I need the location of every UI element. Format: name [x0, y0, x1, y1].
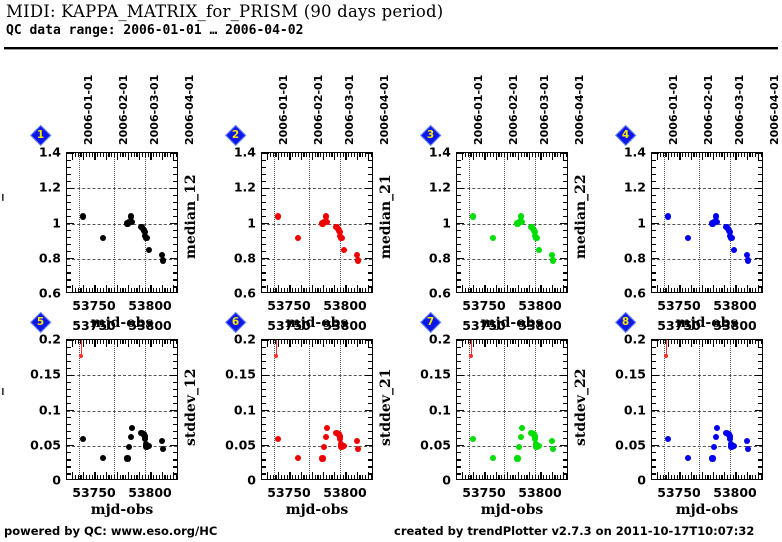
axis-tick-minor [696, 340, 697, 344]
data-point [731, 443, 737, 449]
axis-tick-major [702, 340, 703, 347]
data-point [685, 455, 691, 461]
data-point [711, 444, 717, 450]
axis-tick-minor [727, 475, 728, 479]
axis-tick-major [702, 472, 703, 479]
axis-tick-minor [707, 475, 708, 479]
axis-tick-major [657, 472, 658, 479]
axis-tick-minor [749, 475, 750, 479]
axis-tick-major [755, 410, 762, 411]
axis-tick-major [679, 340, 680, 347]
axis-tick-minor [652, 438, 656, 439]
axis-tick-minor [696, 475, 697, 479]
axis-tick-minor [758, 431, 762, 432]
axis-tick-minor [727, 340, 728, 344]
data-point [665, 436, 671, 442]
axis-tick-minor [682, 340, 683, 344]
y-axis-tick-label: 0.1 [605, 402, 646, 417]
gridline-vertical [664, 340, 665, 479]
axis-tick-minor [741, 475, 742, 479]
axis-tick-major [735, 340, 736, 347]
axis-tick-minor [685, 340, 686, 344]
axis-tick-minor [652, 347, 656, 348]
axis-tick-minor [758, 396, 762, 397]
y-axis-tick-label: 0.15 [605, 367, 646, 382]
axis-tick-major [668, 472, 669, 479]
axis-tick-minor [682, 475, 683, 479]
axis-tick-minor [733, 340, 734, 344]
axis-tick-major [691, 472, 692, 479]
axis-tick-minor [761, 475, 762, 479]
trend-plot-page: MIDI: KAPPA_MATRIX_for_PRISM (90 days pe… [0, 0, 782, 542]
axis-tick-major [652, 445, 659, 446]
axis-tick-minor [758, 417, 762, 418]
footer-powered-by: powered by QC: www.eso.org/HC [4, 524, 217, 538]
axis-tick-major [747, 340, 748, 347]
axis-tick-major [755, 375, 762, 376]
axis-tick-minor [716, 340, 717, 344]
axis-tick-minor [761, 340, 762, 344]
y-axis-tick-label: 0 [605, 473, 646, 488]
axis-tick-major [755, 445, 762, 446]
axis-tick-minor [652, 354, 656, 355]
data-point [714, 425, 720, 431]
axis-tick-minor [652, 368, 656, 369]
axis-tick-major [657, 340, 658, 347]
axis-tick-minor [758, 438, 762, 439]
axis-tick-minor [758, 382, 762, 383]
axis-tick-minor [665, 475, 666, 479]
axis-tick-minor [755, 475, 756, 479]
axis-tick-minor [671, 475, 672, 479]
axis-tick-minor [674, 340, 675, 344]
axis-tick-major [652, 375, 659, 376]
axis-tick-minor [752, 475, 753, 479]
axis-tick-minor [699, 340, 700, 344]
gridline-horizontal [652, 375, 762, 376]
gridline-vertical [730, 340, 731, 479]
plot-area-stddev_22 [651, 339, 763, 480]
axis-tick-minor [730, 340, 731, 344]
axis-tick-minor [652, 361, 656, 362]
axis-tick-minor [719, 340, 720, 344]
axis-tick-minor [677, 340, 678, 344]
axis-tick-minor [699, 475, 700, 479]
axis-tick-major [713, 472, 714, 479]
axis-tick-minor [705, 340, 706, 344]
axis-tick-major [758, 472, 759, 479]
axis-tick-minor [752, 340, 753, 344]
axis-tick-minor [719, 475, 720, 479]
axis-tick-minor [652, 473, 656, 474]
axis-tick-major [747, 472, 748, 479]
axis-tick-minor [652, 466, 656, 467]
axis-tick-minor [652, 396, 656, 397]
data-point [709, 455, 715, 461]
y-axis-tick-label: 0.05 [605, 437, 646, 452]
axis-tick-major [691, 340, 692, 347]
axis-tick-minor [721, 475, 722, 479]
axis-tick-minor [663, 475, 664, 479]
x-axis-tick-label: 53750 [657, 485, 701, 500]
axis-tick-minor [671, 340, 672, 344]
axis-tick-major [679, 472, 680, 479]
panel-badge-number: 8 [616, 313, 635, 332]
footer-created-by: created by trendPlotter v2.7.3 on 2011-1… [394, 524, 754, 538]
plot-panel-stddev_22: 00.050.10.150.2stddev_225375053800mjd-ob… [0, 0, 782, 542]
axis-tick-minor [758, 361, 762, 362]
y-axis-title: stddev_22 [573, 368, 589, 445]
axis-tick-minor [688, 475, 689, 479]
axis-tick-minor [733, 475, 734, 479]
axis-tick-minor [749, 340, 750, 344]
gridline-vertical [699, 340, 700, 479]
axis-tick-major [724, 340, 725, 347]
x-axis-title: mjd-obs [676, 502, 739, 518]
axis-tick-minor [738, 475, 739, 479]
data-point [744, 438, 750, 444]
axis-tick-major [758, 340, 759, 347]
axis-tick-minor [705, 475, 706, 479]
axis-tick-minor [693, 340, 694, 344]
axis-tick-minor [688, 340, 689, 344]
axis-tick-minor [693, 475, 694, 479]
axis-tick-minor [744, 475, 745, 479]
axis-tick-minor [758, 424, 762, 425]
axis-tick-minor [741, 340, 742, 344]
axis-tick-minor [707, 340, 708, 344]
axis-tick-minor [660, 475, 661, 479]
data-point [745, 446, 751, 452]
axis-tick-minor [652, 424, 656, 425]
axis-tick-minor [758, 354, 762, 355]
axis-tick-minor [685, 475, 686, 479]
top-axis-tick-label: 53800 [713, 318, 757, 333]
axis-tick-major [735, 472, 736, 479]
axis-tick-minor [674, 475, 675, 479]
axis-tick-minor [652, 431, 656, 432]
axis-tick-minor [758, 466, 762, 467]
axis-tick-minor [660, 340, 661, 344]
axis-tick-minor [677, 475, 678, 479]
axis-tick-minor [652, 403, 656, 404]
axis-tick-minor [758, 459, 762, 460]
axis-tick-minor [710, 475, 711, 479]
axis-tick-major [652, 410, 659, 411]
axis-tick-minor [652, 382, 656, 383]
axis-tick-major [724, 472, 725, 479]
axis-tick-minor [652, 417, 656, 418]
axis-tick-minor [758, 368, 762, 369]
top-axis-tick-label: 53750 [657, 318, 701, 333]
axis-tick-minor [652, 452, 656, 453]
axis-tick-major [668, 340, 669, 347]
axis-tick-minor [730, 475, 731, 479]
data-point [713, 434, 719, 440]
axis-tick-minor [652, 459, 656, 460]
axis-tick-minor [758, 452, 762, 453]
axis-tick-minor [663, 340, 664, 344]
axis-tick-minor [710, 340, 711, 344]
axis-tick-minor [652, 389, 656, 390]
axis-tick-minor [738, 340, 739, 344]
axis-tick-minor [744, 340, 745, 344]
axis-tick-minor [716, 475, 717, 479]
panel-badge-8[interactable]: 8 [616, 313, 635, 332]
x-axis-tick-label: 53800 [713, 485, 757, 500]
axis-tick-major [713, 340, 714, 347]
axis-tick-minor [721, 340, 722, 344]
axis-tick-minor [755, 340, 756, 344]
axis-tick-minor [758, 403, 762, 404]
axis-tick-minor [758, 389, 762, 390]
gridline-horizontal [652, 411, 762, 412]
